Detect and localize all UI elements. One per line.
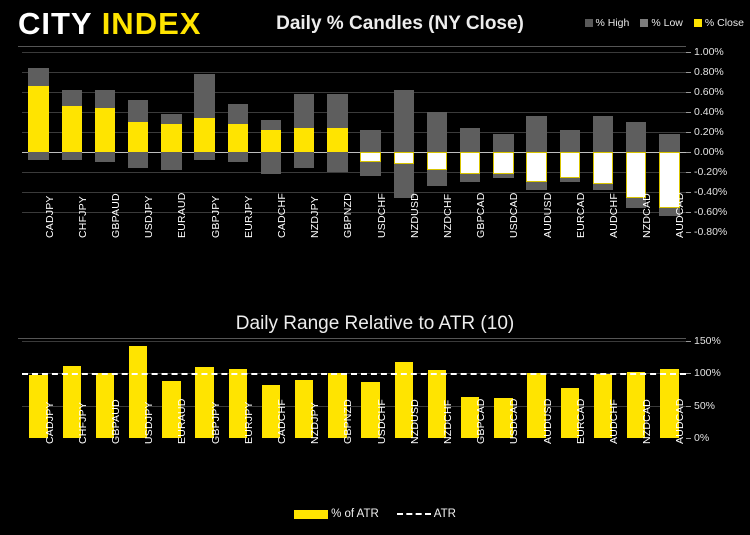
y-axis-label: 0% [694,432,709,444]
y-axis-label: 50% [694,400,715,412]
legend-item-atr: ATR [397,508,456,520]
x-axis-label: AUDCAD [674,398,686,444]
y-axis-tick [686,438,691,439]
x-axis-label: NZDUSD [409,399,421,444]
x-axis-label: USDCHF [376,399,388,444]
x-axis-label: GBPCAD [475,398,487,444]
x-axis-label: CHFJPY [77,402,89,444]
legend-label-atr: ATR [434,508,456,520]
chart-page: CITY INDEX Daily % Candles (NY Close) % … [0,0,750,535]
legend-swatch-pct-of-atr-icon [294,510,328,519]
x-axis-label: CADJPY [44,401,56,444]
x-axis-label: AUDUSD [542,398,554,444]
legend-item-pct-of-atr: % of ATR [294,508,379,520]
x-axis-label: EURCAD [575,398,587,444]
x-axis-label: GBPJPY [210,401,222,444]
x-axis-label: NZDJPY [309,402,321,444]
bottom-chart-legend: % of ATR ATR [0,508,750,520]
x-axis-label: GBPAUD [110,399,122,444]
x-axis-label: USDCAD [508,398,520,444]
legend-label-pct-of-atr: % of ATR [331,508,379,520]
grid-line [22,341,686,342]
x-axis-label: NZDCAD [641,399,653,444]
y-axis-tick [686,406,691,407]
atr-reference-line [22,373,686,375]
x-axis-label: USDJPY [143,401,155,444]
x-axis-label: GBPNZD [342,399,354,444]
x-axis-label: AUDCHF [608,399,620,444]
x-axis-label: EURAUD [176,398,188,444]
y-axis-tick [686,373,691,374]
x-axis-label: NZDCHF [442,400,454,444]
y-axis-label: 150% [694,335,721,347]
legend-dash-atr-icon [397,513,431,515]
x-axis-label: EURJPY [243,401,255,444]
y-axis-tick [686,341,691,342]
x-axis-label: CADCHF [276,399,288,444]
y-axis-label: 100% [694,367,721,379]
bottom-chart-panel: 150%100%50%0% CADJPYCHFJPYGBPAUDUSDJPYEU… [0,0,750,535]
